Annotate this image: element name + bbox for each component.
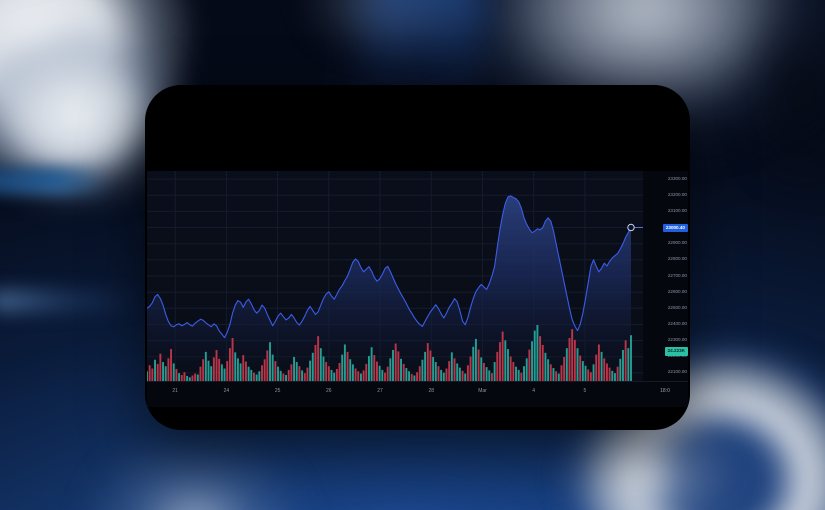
price-axis[interactable]: 23300.0023200.0023100.0022900.0022800.00… [643, 171, 688, 393]
price-axis-tick: 22600.00 [668, 290, 687, 295]
time-axis-tick: 25 [275, 389, 281, 394]
time-axis-tick: 4 [532, 389, 535, 394]
time-axis-tick: Mar [478, 389, 487, 394]
time-axis-tick: 26 [326, 389, 332, 394]
time-axis-tick: 24 [224, 389, 230, 394]
time-axis-tick: 21 [172, 389, 178, 394]
price-chart: 23300.0023200.0023100.0022900.0022800.00… [147, 171, 688, 406]
time-axis[interactable]: 212425262728Mar4518:0 [147, 381, 688, 407]
price-axis-tick: 22900.00 [668, 241, 687, 246]
price-axis-tick: 22800.00 [668, 257, 687, 262]
price-axis-tick: 22300.00 [668, 338, 687, 343]
time-axis-tick: 28 [429, 389, 435, 394]
price-axis-tick: 22100.00 [668, 370, 687, 375]
price-axis-tick: 23300.00 [668, 177, 687, 182]
background-blur-streak-upper [0, 168, 110, 194]
current-time-label: 18:0 [660, 389, 670, 394]
last-price-badge[interactable]: 23000.40 [663, 224, 688, 233]
chart-area-fill [147, 196, 631, 381]
price-axis-tick: 23200.00 [668, 193, 687, 198]
time-axis-tick: 27 [377, 389, 383, 394]
time-axis-tick: 5 [584, 389, 587, 394]
chart-plot-area[interactable] [147, 171, 643, 381]
chart-card: DAX 23300.0023200.0023100.0022900.002280… [145, 85, 690, 430]
chart-last-price-marker [628, 224, 643, 230]
background-blur-streak-lower [0, 290, 140, 312]
price-axis-tick: 22400.00 [668, 322, 687, 327]
price-axis-tick: 22700.00 [668, 274, 687, 279]
volume-badge[interactable]: 24.223K [665, 347, 688, 356]
price-axis-tick: 22500.00 [668, 306, 687, 311]
chart-svg [147, 171, 643, 381]
price-axis-tick: 23100.00 [668, 209, 687, 214]
